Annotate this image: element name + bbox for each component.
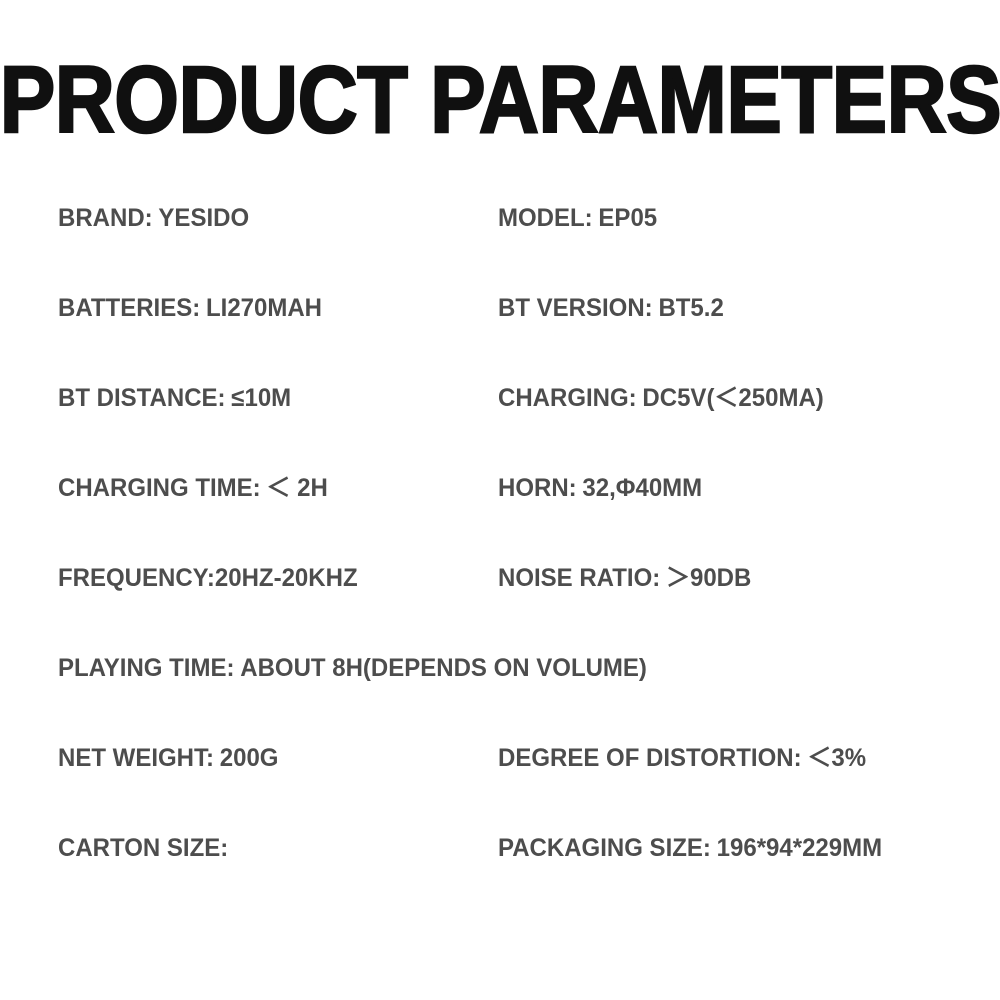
spec-row: BATTERIES:LI270MAH BT VERSION:BT5.2 [0,286,1000,376]
spec-item-bt-version: BT VERSION:BT5.2 [498,286,724,330]
spec-value: DC5V(＜250MA) [642,384,823,412]
spec-label: NET WEIGHT: [58,744,214,772]
spec-row: CHARGING TIME:＜ 2H HORN:32,Φ40MM [0,466,1000,556]
spec-value: EP05 [598,204,657,232]
spec-item-packaging-size: PACKAGING SIZE:196*94*229MM [498,826,882,870]
spec-item-noise-ratio: NOISE RATIO:＞90DB [498,556,751,600]
spec-label: CHARGING: [498,384,637,412]
spec-value: ≤10M [231,384,291,412]
spec-value: ＜ 2H [266,474,327,502]
page-title: PRODUCT PARAMETERS [0,50,1000,149]
spec-value: 20HZ-20KHZ [215,564,358,592]
spec-item-batteries: BATTERIES:LI270MAH [58,286,322,330]
spec-label: BT VERSION: [498,294,653,322]
spec-row: BT DISTANCE:≤10M CHARGING:DC5V(＜250MA) [0,376,1000,466]
spec-row: NET WEIGHT:200G DEGREE OF DISTORTION:＜3% [0,736,1000,826]
spec-value: 32,Φ40MM [582,474,702,502]
spec-value: ABOUT 8H(DEPENDS ON VOLUME) [240,654,647,682]
spec-item-frequency: FREQUENCY:20HZ-20KHZ [58,556,358,600]
page-title-container: PRODUCT PARAMETERS [0,58,1000,142]
spec-value: LI270MAH [206,294,322,322]
spec-item-carton-size: CARTON SIZE: [58,826,234,870]
spec-row: PLAYING TIME:ABOUT 8H(DEPENDS ON VOLUME) [0,646,1000,736]
spec-label: NOISE RATIO: [498,564,660,592]
spec-label: MODEL: [498,204,593,232]
spec-value: 196*94*229MM [717,834,882,862]
spec-value: ＜3% [807,744,866,772]
spec-label: BATTERIES: [58,294,200,322]
spec-value: BT5.2 [658,294,723,322]
spec-row: CARTON SIZE: PACKAGING SIZE:196*94*229MM [0,826,1000,916]
spec-label: PLAYING TIME: [58,654,234,682]
spec-value: ＞90DB [666,564,751,592]
spec-item-bt-distance: BT DISTANCE:≤10M [58,376,291,420]
spec-item-degree-of-distortion: DEGREE OF DISTORTION:＜3% [498,736,866,780]
spec-value: 200G [220,744,279,772]
spec-value: YESIDO [158,204,249,232]
spec-label: FREQUENCY: [58,564,215,592]
spec-label: HORN: [498,474,577,502]
spec-label: DEGREE OF DISTORTION: [498,744,802,772]
spec-row: FREQUENCY:20HZ-20KHZ NOISE RATIO:＞90DB [0,556,1000,646]
spec-label: BT DISTANCE: [58,384,226,412]
specifications-grid: BRAND:YESIDO MODEL:EP05 BATTERIES:LI270M… [0,196,1000,916]
spec-item-playing-time: PLAYING TIME:ABOUT 8H(DEPENDS ON VOLUME) [58,646,647,690]
spec-item-brand: BRAND:YESIDO [58,196,249,240]
spec-item-charging-time: CHARGING TIME:＜ 2H [58,466,328,510]
spec-label: CHARGING TIME: [58,474,261,502]
product-parameters-page: PRODUCT PARAMETERS BRAND:YESIDO MODEL:EP… [0,0,1000,1000]
spec-label: BRAND: [58,204,153,232]
spec-item-horn: HORN:32,Φ40MM [498,466,702,510]
spec-item-charging: CHARGING:DC5V(＜250MA) [498,376,824,420]
spec-label: PACKAGING SIZE: [498,834,711,862]
spec-row: BRAND:YESIDO MODEL:EP05 [0,196,1000,286]
spec-item-model: MODEL:EP05 [498,196,657,240]
spec-item-net-weight: NET WEIGHT:200G [58,736,278,780]
spec-label: CARTON SIZE: [58,834,228,862]
